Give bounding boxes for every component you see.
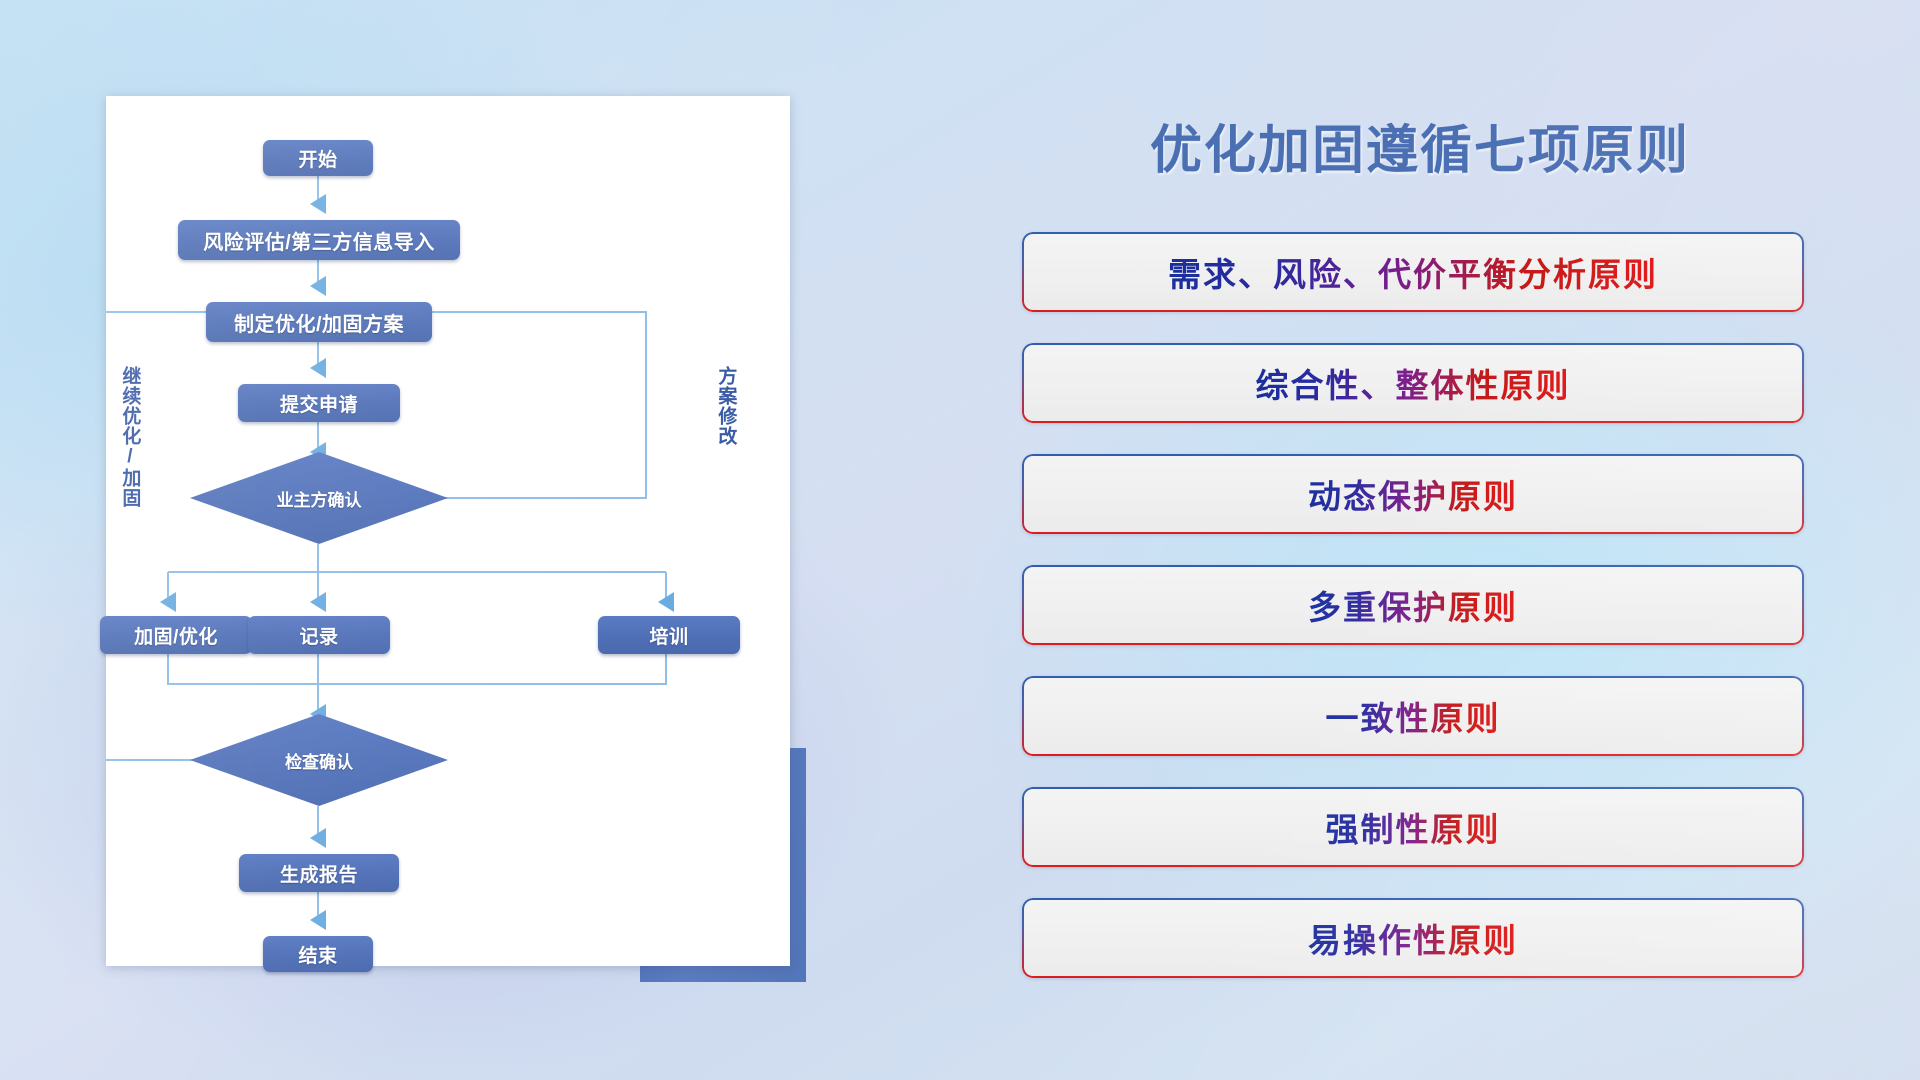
flow-node-plan[interactable]: 制定优化/加固方案 <box>206 302 432 342</box>
principle-item-7[interactable]: 易操作性原则 <box>1022 898 1804 978</box>
flow-node-check-confirm-label: 检查确认 <box>285 748 353 773</box>
principle-label: 易操作性原则 <box>1308 914 1518 962</box>
flow-node-training[interactable]: 培训 <box>598 616 740 654</box>
edge-label-plan-revision: 方案修改 <box>716 366 735 446</box>
principle-label: 一致性原则 <box>1326 692 1501 740</box>
principle-label: 强制性原则 <box>1326 803 1501 851</box>
principle-label: 多重保护原则 <box>1308 581 1518 629</box>
principle-item-6[interactable]: 强制性原则 <box>1022 787 1804 867</box>
flow-node-record[interactable]: 记录 <box>248 616 390 654</box>
flow-node-submit-application[interactable]: 提交申请 <box>238 384 400 422</box>
principles-list: 需求、风险、代价平衡分析原则 综合性、整体性原则 动态保护原则 多重保护原则 一… <box>1022 232 1804 1009</box>
principle-item-4[interactable]: 多重保护原则 <box>1022 565 1804 645</box>
page-title: 优化加固遵循七项原则 <box>1150 108 1690 183</box>
flow-node-owner-confirm-label: 业主方确认 <box>277 486 362 511</box>
principle-item-5[interactable]: 一致性原则 <box>1022 676 1804 756</box>
principle-item-3[interactable]: 动态保护原则 <box>1022 454 1804 534</box>
flow-node-check-confirm[interactable]: 检查确认 <box>190 714 448 806</box>
principle-item-1[interactable]: 需求、风险、代价平衡分析原则 <box>1022 232 1804 312</box>
principle-item-2[interactable]: 综合性、整体性原则 <box>1022 343 1804 423</box>
flow-node-end[interactable]: 结束 <box>263 936 373 972</box>
flow-node-reinforce[interactable]: 加固/优化 <box>100 616 252 654</box>
principle-label: 需求、风险、代价平衡分析原则 <box>1168 248 1658 296</box>
slide-canvas: 开始 风险评估/第三方信息导入 制定优化/加固方案 提交申请 业主方确认 加固/… <box>0 0 1920 1080</box>
flowchart-card: 开始 风险评估/第三方信息导入 制定优化/加固方案 提交申请 业主方确认 加固/… <box>106 96 790 966</box>
flowchart: 开始 风险评估/第三方信息导入 制定优化/加固方案 提交申请 业主方确认 加固/… <box>106 96 790 966</box>
flow-node-start[interactable]: 开始 <box>263 140 373 176</box>
flow-node-generate-report[interactable]: 生成报告 <box>239 854 399 892</box>
flow-node-risk-assessment[interactable]: 风险评估/第三方信息导入 <box>178 220 460 260</box>
principle-label: 动态保护原则 <box>1308 470 1518 518</box>
edge-label-continue-optimize: 继续优化/加固 <box>120 366 139 508</box>
flow-node-owner-confirm[interactable]: 业主方确认 <box>190 452 448 544</box>
principle-label: 综合性、整体性原则 <box>1256 359 1571 407</box>
